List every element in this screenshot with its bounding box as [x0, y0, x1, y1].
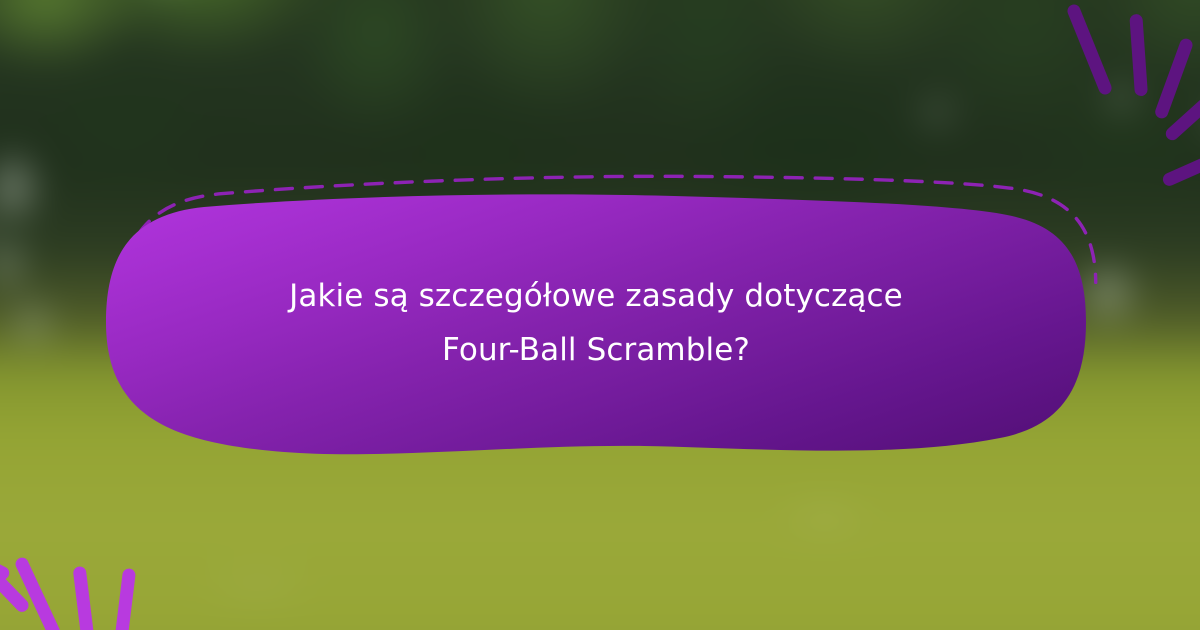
question-text-block: Jakie są szczegółowe zasady dotyczące Fo…: [104, 194, 1088, 452]
question-line-2: Four-Ball Scramble?: [442, 323, 750, 377]
question-card: Jakie są szczegółowe zasady dotyczące Fo…: [104, 180, 1088, 460]
poster-canvas: Jakie są szczegółowe zasady dotyczące Fo…: [0, 0, 1200, 630]
question-line-1: Jakie są szczegółowe zasady dotyczące: [289, 269, 903, 323]
